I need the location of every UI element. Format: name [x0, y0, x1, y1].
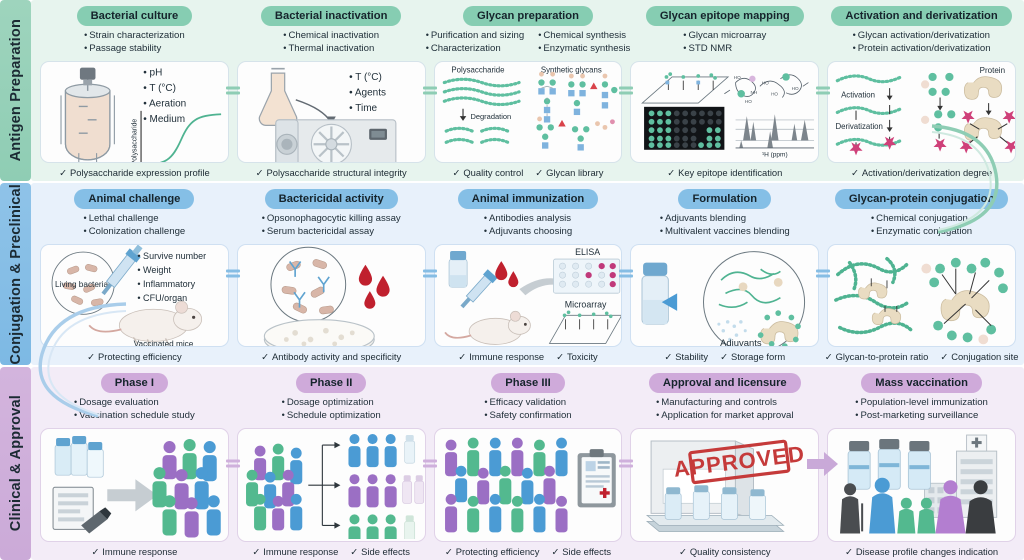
step-bullets: Glycan microarray STD NMR: [683, 30, 766, 56]
check-item: Glycan-to-protein ratio: [825, 351, 929, 363]
row-conjugation-preclinical: Conjugation & Preclinical Animal challen…: [0, 183, 1024, 365]
step-checks: Polysaccharide expression profile: [59, 167, 210, 179]
stage-label-text: Clinical & Approval: [8, 395, 24, 531]
svg-text:HO: HO: [792, 86, 799, 91]
check-item: Polysaccharide structural integrity: [256, 167, 407, 179]
step-bullets: Opsonophagocytic killing assay Serum bac…: [262, 213, 401, 239]
step-bullets: Chemical conjugation Enzymatic conjugati…: [871, 213, 972, 239]
step-title: Bacterial culture: [77, 6, 193, 26]
check-item: Glycan library: [535, 167, 603, 179]
check-item: Protecting efficiency: [445, 546, 540, 558]
step-title: Bactericidal activity: [265, 189, 398, 209]
step-connector: [226, 86, 240, 95]
approval-to-vaccination-arrow: [807, 451, 839, 477]
step-checks: Activation/derivatization degree: [851, 167, 992, 179]
stage-label-text: Conjugation & Preclinical: [8, 184, 24, 365]
step-connector: [226, 270, 240, 279]
step-checks: Disease profile changes indication: [845, 546, 998, 558]
animal-challenge-icon: Living bacteria: [41, 245, 228, 348]
illustration-card: [237, 244, 426, 348]
step-connector: [619, 270, 633, 279]
step-bullets: Antibodies analysis Adjuvants choosing: [484, 213, 572, 239]
step-formulation[interactable]: Formulation Adjuvants blending Multivale…: [626, 183, 823, 365]
check-item: Conjugation site: [940, 351, 1018, 363]
svg-text:• T (°C): • T (°C): [143, 82, 176, 93]
step-checks: Immune response Toxicity: [458, 351, 598, 363]
check-item: Disease profile changes indication: [845, 546, 998, 558]
step-connector: [619, 459, 633, 468]
svg-text:• Weight: • Weight: [137, 265, 171, 275]
bullet: Antibodies analysis: [484, 213, 572, 226]
step-bullets: Purification and sizing Characterization…: [426, 30, 631, 56]
step-title: Approval and licensure: [649, 373, 801, 393]
step-connector: [423, 459, 437, 468]
phase-three-icon: [435, 429, 622, 539]
step-checks: Immune response: [91, 546, 177, 558]
step-checks: Antibody activity and specificity: [261, 351, 401, 363]
bullet: Opsonophagocytic killing assay: [262, 213, 401, 226]
bullet: Adjuvants blending: [660, 213, 790, 226]
illustration-card: Polysaccharide Synthetic glycans: [434, 61, 623, 164]
step-glycan-epitope-mapping[interactable]: Glycan epitope mapping Glycan microarray…: [626, 0, 823, 181]
svg-text:• Survive number: • Survive number: [137, 251, 206, 261]
svg-text:Living bacteria: Living bacteria: [55, 280, 108, 289]
step-title: Bacterial inactivation: [261, 6, 402, 26]
step-title: Phase III: [491, 373, 564, 393]
step-bacterial-culture[interactable]: Bacterial culture Strain characterizatio…: [36, 0, 233, 181]
step-glycan-preparation[interactable]: Glycan preparation Purification and sizi…: [430, 0, 627, 181]
step-connector: [816, 270, 830, 279]
immunization-assay-icon: ELISA: [435, 245, 622, 348]
bullet: Efficacy validation: [484, 397, 571, 410]
step-checks: Protecting efficiency: [87, 351, 182, 363]
step-checks: Stability Storage form: [664, 351, 785, 363]
bullet: Passage stability: [84, 43, 185, 56]
step-connector: [816, 86, 830, 95]
svg-text:Polysaccharide: Polysaccharide: [451, 65, 504, 74]
illustration-card: [827, 428, 1016, 543]
bullet: Strain characterization: [84, 30, 185, 43]
svg-text:• Aeration: • Aeration: [143, 98, 186, 109]
step-title: Glycan epitope mapping: [646, 6, 804, 26]
svg-text:• Time: • Time: [349, 102, 377, 113]
illustration-card: • T (°C) • Agents • Time: [237, 61, 426, 164]
phase-two-icon: [238, 429, 425, 539]
bullet: Colonization challenge: [84, 226, 186, 239]
svg-text:HO: HO: [771, 91, 778, 96]
svg-text:• Agents: • Agents: [349, 87, 386, 98]
step-glycan-protein-conjugation[interactable]: Glycan-protein conjugation Chemical conj…: [823, 183, 1020, 365]
step-bullets: Lethal challenge Colonization challenge: [84, 213, 186, 239]
bullet: Adjuvants choosing: [484, 226, 572, 239]
step-checks: Polysaccharide structural integrity: [256, 167, 407, 179]
svg-text:ELISA: ELISA: [575, 247, 600, 257]
svg-text:Polysaccharide: Polysaccharide: [132, 118, 139, 163]
illustration-card: [40, 428, 229, 543]
step-bullets: Chemical inactivation Thermal inactivati…: [283, 30, 379, 56]
check-item: Quality consistency: [679, 546, 771, 558]
svg-text:• pH: • pH: [143, 67, 162, 78]
stage-label-antigen-preparation: Antigen Preparation: [0, 0, 31, 181]
step-checks: Key epitope identification: [667, 167, 782, 179]
step-title: Animal immunization: [458, 189, 599, 209]
step-title: Phase I: [101, 373, 168, 393]
conjugation-icon: [828, 245, 1015, 347]
illustration-card: APPROVED: [630, 428, 819, 543]
illustration-card: • pH • T (°C) • Aeration • Medium Polysa…: [40, 61, 229, 164]
bullet: Vaccination schedule study: [74, 410, 195, 423]
row-antigen-preparation: Antigen Preparation Bacterial culture St…: [0, 0, 1024, 181]
step-bullets: Adjuvants blending Multivalent vaccines …: [660, 213, 790, 239]
step-animal-challenge[interactable]: Animal challenge Lethal challenge Coloni…: [36, 183, 233, 365]
manufacturing-approval-icon: APPROVED: [631, 429, 818, 539]
bullet: Lethal challenge: [84, 213, 186, 226]
illustration-card: Activation Derivatization: [827, 61, 1016, 164]
phase-one-icon: [41, 429, 228, 539]
step-title: Glycan preparation: [463, 6, 593, 26]
autoclave-icon: • T (°C) • Agents • Time: [238, 62, 425, 164]
bullet: Characterization: [426, 43, 524, 56]
step-checks: Immune response Side effects: [252, 546, 410, 558]
step-connector: [226, 459, 240, 468]
row-clinical-approval: Clinical & Approval Phase I Dosage evalu…: [0, 367, 1024, 560]
step-title: Formulation: [678, 189, 771, 209]
bullet: Dosage optimization: [282, 397, 381, 410]
glycan-microarray-nmr-icon: HOHO HOHO HONH: [631, 62, 818, 159]
svg-text:Degradation: Degradation: [470, 111, 511, 120]
step-activation-derivatization[interactable]: Activation and derivatization Glycan act…: [823, 0, 1020, 181]
bullet: Serum bactericidal assay: [262, 226, 401, 239]
bullet: Thermal inactivation: [283, 43, 379, 56]
step-title: Mass vaccination: [861, 373, 982, 393]
formulation-icon: Adjuvants: [631, 245, 818, 348]
bullet: Dosage evaluation: [74, 397, 195, 410]
svg-text:Synthetic glycans: Synthetic glycans: [540, 65, 601, 74]
illustration-card: [434, 428, 623, 543]
svg-text:• T (°C): • T (°C): [349, 71, 382, 82]
check-item: Stability: [664, 351, 708, 363]
check-item: Immune response: [458, 351, 544, 363]
svg-text:• Medium: • Medium: [143, 114, 185, 125]
svg-text:Adjuvants: Adjuvants: [721, 338, 763, 347]
check-item: Key epitope identification: [667, 167, 782, 179]
bullet: Multivalent vaccines blending: [660, 226, 790, 239]
step-bullets: Population-level immunization Post-marke…: [855, 397, 988, 423]
bullet: Protein activation/derivatization: [853, 43, 991, 56]
step-title: Activation and derivatization: [831, 6, 1011, 26]
glycan-preparation-icon: Polysaccharide Synthetic glycans: [435, 62, 622, 159]
step-mass-vaccination[interactable]: Mass vaccination Population-level immuni…: [823, 367, 1020, 560]
bullet: Post-marketing surveillance: [855, 410, 988, 423]
workflow-diagram: Antigen Preparation Bacterial culture St…: [0, 0, 1024, 560]
step-checks: Quality control Glycan library: [453, 167, 604, 179]
bioreactor-icon: • pH • T (°C) • Aeration • Medium Polysa…: [41, 62, 228, 164]
illustration-card: Adjuvants: [630, 244, 819, 348]
svg-text:• Inflammatory: • Inflammatory: [137, 279, 195, 289]
step-bullets: Manufacturing and controls Application f…: [656, 397, 793, 423]
bullet: Chemical inactivation: [283, 30, 379, 43]
step-bactericidal-activity[interactable]: Bactericidal activity Opsonophagocytic k…: [233, 183, 430, 365]
svg-text:Microarray: Microarray: [564, 299, 606, 309]
step-connector: [619, 86, 633, 95]
bullet: Application for market approval: [656, 410, 793, 423]
svg-text:HO: HO: [745, 99, 752, 104]
step-bullets: Dosage optimization Schedule optimizatio…: [282, 397, 381, 423]
bullet: Glycan microarray: [683, 30, 766, 43]
steps-container: Animal challenge Lethal challenge Coloni…: [36, 183, 1020, 365]
step-bullets: Glycan activation/derivatization Protein…: [853, 30, 991, 56]
illustration-card: HOHO HOHO HONH: [630, 61, 819, 164]
bullet: Manufacturing and controls: [656, 397, 793, 410]
activation-derivatization-icon: Activation Derivatization: [828, 62, 1015, 159]
check-item: Immune response: [91, 546, 177, 558]
bullet: STD NMR: [683, 43, 766, 56]
svg-text:Activation: Activation: [841, 90, 875, 99]
stage-label-text: Antigen Preparation: [8, 19, 24, 161]
step-checks: Quality consistency: [679, 546, 771, 558]
step-bullets: Efficacy validation Safety confirmation: [484, 397, 571, 423]
step-bullets: Strain characterization Passage stabilit…: [84, 30, 185, 56]
bullet: Chemical conjugation: [871, 213, 972, 226]
svg-text:HO: HO: [762, 80, 769, 85]
step-bullets: Dosage evaluation Vaccination schedule s…: [74, 397, 195, 423]
svg-text:HO: HO: [734, 74, 741, 79]
step-phase-i[interactable]: Phase I Dosage evaluation Vaccination sc…: [36, 367, 233, 560]
illustration-card: [827, 244, 1016, 348]
bullet: Purification and sizing: [426, 30, 524, 43]
check-item: Protecting efficiency: [87, 351, 182, 363]
steps-container: Bacterial culture Strain characterizatio…: [36, 0, 1020, 181]
step-phase-iii[interactable]: Phase III Efficacy validation Safety con…: [430, 367, 627, 560]
check-item: Toxicity: [556, 351, 598, 363]
check-item: Immune response: [252, 546, 338, 558]
bactericidal-assay-icon: [238, 245, 425, 348]
bullet: Population-level immunization: [855, 397, 988, 410]
bullet: Enzymatic conjugation: [871, 226, 972, 239]
step-connector: [423, 86, 437, 95]
step-title: Animal challenge: [74, 189, 194, 209]
svg-text:¹H (ppm): ¹H (ppm): [762, 151, 788, 158]
steps-container: Phase I Dosage evaluation Vaccination sc…: [36, 367, 1020, 560]
check-item: Side effects: [350, 546, 410, 558]
svg-text:Vaccinated mice: Vaccinated mice: [134, 339, 194, 347]
step-connector: [423, 270, 437, 279]
step-checks: Protecting efficiency Side effects: [445, 546, 611, 558]
stage-label-conjugation-preclinical: Conjugation & Preclinical: [0, 183, 31, 365]
bullet: Safety confirmation: [484, 410, 571, 423]
check-item: Activation/derivatization degree: [851, 167, 992, 179]
svg-text:• CFU/organ: • CFU/organ: [137, 293, 187, 303]
step-bacterial-inactivation[interactable]: Bacterial inactivation Chemical inactiva…: [233, 0, 430, 181]
check-item: Quality control: [453, 167, 524, 179]
step-approval-licensure[interactable]: Approval and licensure Manufacturing and…: [626, 367, 823, 560]
check-item: Side effects: [551, 546, 611, 558]
illustration-card: Living bacteria: [40, 244, 229, 348]
check-item: Antibody activity and specificity: [261, 351, 401, 363]
step-title: Phase II: [296, 373, 366, 393]
svg-text:NH: NH: [751, 89, 758, 94]
stage-label-clinical-approval: Clinical & Approval: [0, 367, 31, 560]
svg-text:Derivatization: Derivatization: [836, 122, 883, 131]
svg-text:Protein: Protein: [980, 66, 1005, 75]
illustration-card: ELISA: [434, 244, 623, 348]
bullet: Schedule optimization: [282, 410, 381, 423]
step-title: Glycan-protein conjugation: [835, 189, 1008, 209]
bullet: Glycan activation/derivatization: [853, 30, 991, 43]
step-checks: Glycan-to-protein ratio Conjugation site: [825, 351, 1019, 363]
mass-vaccination-icon: [828, 429, 1015, 539]
step-animal-immunization[interactable]: Animal immunization Antibodies analysis …: [430, 183, 627, 365]
bullet: Enzymatic synthesis: [538, 43, 630, 56]
bullet: Chemical synthesis: [538, 30, 630, 43]
check-item: Polysaccharide expression profile: [59, 167, 210, 179]
step-phase-ii[interactable]: Phase II Dosage optimization Schedule op…: [233, 367, 430, 560]
check-item: Storage form: [720, 351, 785, 363]
illustration-card: [237, 428, 426, 543]
